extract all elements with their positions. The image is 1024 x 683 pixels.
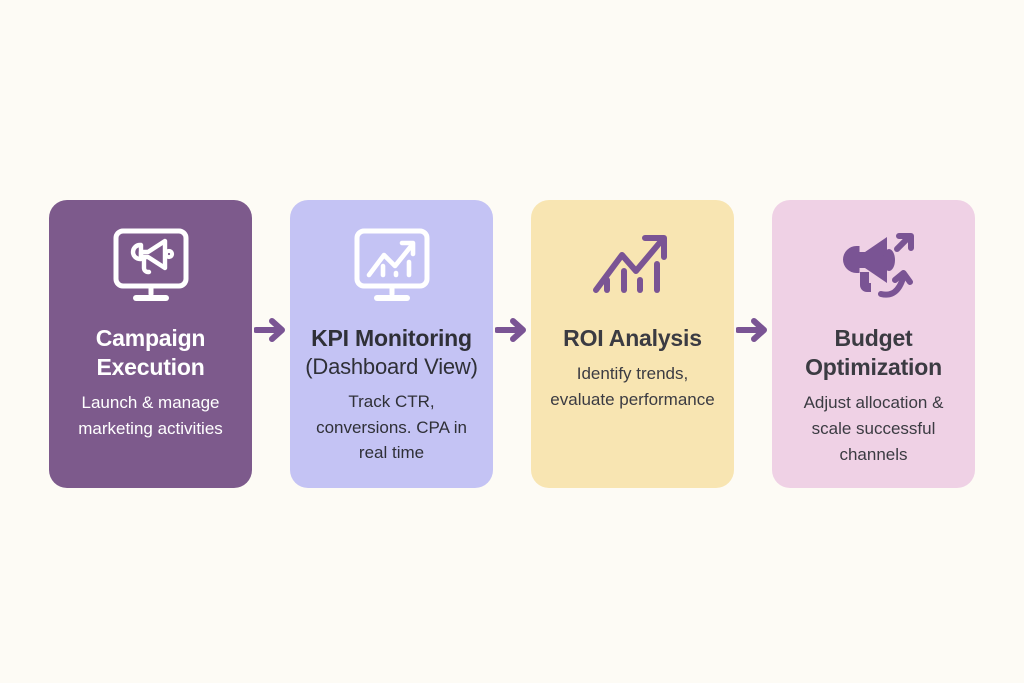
flow-step-title-text: Campaign Execution xyxy=(96,325,206,380)
flow-step-title: Budget Optimization xyxy=(782,324,965,382)
monitor-chart-icon xyxy=(350,224,434,310)
flow-step-title: KPI Monitoring (Dashboard View) xyxy=(305,324,477,381)
flow-step-description: Track CTR, conversions. CPA in real time xyxy=(300,389,483,466)
flow-step-roi-analysis[interactable]: ROI Analysis Identify trends, evaluate p… xyxy=(531,200,734,488)
connector-2 xyxy=(493,200,531,488)
flow-step-title-text: Budget Optimization xyxy=(805,325,942,380)
flow-step-title-text: KPI Monitoring xyxy=(311,325,472,351)
diagram-canvas: Campaign Execution Launch & manage marke… xyxy=(0,0,1024,683)
flow-step-campaign-execution[interactable]: Campaign Execution Launch & manage marke… xyxy=(49,200,252,488)
arrow-right-icon xyxy=(495,313,529,347)
flow-step-title: ROI Analysis xyxy=(563,324,702,353)
process-flow: Campaign Execution Launch & manage marke… xyxy=(0,200,1024,488)
flow-step-subtitle: (Dashboard View) xyxy=(305,353,477,381)
megaphone-arrows-icon xyxy=(829,224,919,310)
flow-step-title-text: ROI Analysis xyxy=(563,325,702,351)
flow-step-description: Launch & manage marketing activities xyxy=(59,390,242,442)
flow-step-description: Adjust allocation & scale successful cha… xyxy=(782,390,965,467)
flow-step-description: Identify trends, evaluate performance xyxy=(541,361,724,413)
arrow-right-icon xyxy=(736,313,770,347)
monitor-megaphone-icon xyxy=(109,224,193,310)
connector-1 xyxy=(252,200,290,488)
arrow-right-icon xyxy=(254,313,288,347)
flow-step-kpi-monitoring[interactable]: KPI Monitoring (Dashboard View) Track CT… xyxy=(290,200,493,488)
flow-step-budget-optimization[interactable]: Budget Optimization Adjust allocation & … xyxy=(772,200,975,488)
growth-chart-arrow-icon xyxy=(588,224,678,310)
connector-3 xyxy=(734,200,772,488)
flow-step-title: Campaign Execution xyxy=(59,324,242,382)
